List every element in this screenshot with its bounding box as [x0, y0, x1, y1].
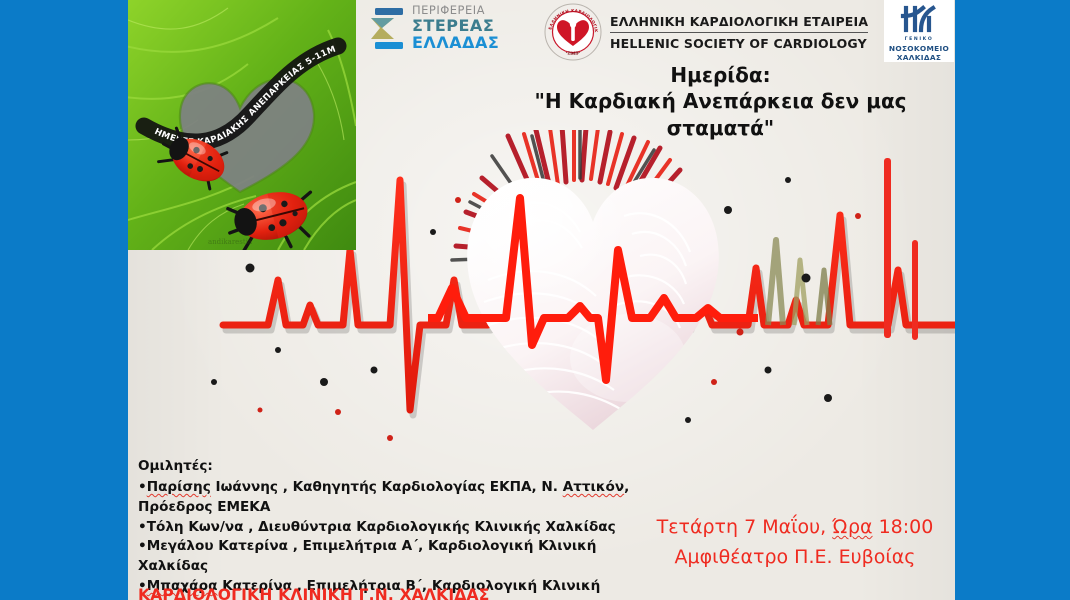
speaker-2-bullet: • [138, 519, 147, 535]
speaker-item-1-second-line: Πρόεδρος ΕΜΕΚΑ [138, 498, 668, 518]
speaker-1-affiliation: Αττικόν [563, 479, 624, 495]
event-date-venue: Τετάρτη 7 Μαΐου, Ώρα 18:00 Αμφιθέατρο Π.… [640, 512, 950, 573]
region-logo-line2: ΣΤΕΡΕΑΣ [412, 18, 499, 34]
sigma-logo-icon [370, 5, 406, 51]
speaker-2-text: Τόλη Κων/να , Διευθύντρια Καρδιολογικής … [147, 519, 616, 535]
title-line-1: Ημερίδα: [533, 62, 908, 88]
hospital-chalkida-logo: ΓΕΝΙΚΟ ΝΟΣΟΚΟΜΕΙΟ ΧΑΛΚΙΔΑΣ [884, 0, 954, 62]
speaker-item-3: •Μεγάλου Κατερίνα , Επιμελήτρια Α΄, Καρδ… [138, 537, 668, 577]
event-venue: Αμφιθέατρο Π.Ε. Ευβοίας [640, 542, 950, 572]
hellenic-society-of-cardiology-logo: ΕΛΛΗΝΙΚΗ ΚΑΡΔΙΟΛΟΓΙΚΗ ΕΤΑΙΡΕΙΑ -1949- ΕΛ… [543, 2, 868, 62]
event-time-value: 18:00 [873, 516, 934, 538]
event-poster: ΗΜΕΡΕΣ ΚΑΡΔΙΑΚΗΣ ΑΝΕΠΑΡΚΕΙΑΣ 5-11Μαΐου [0, 0, 1070, 600]
region-sterea-ellada-logo: ΠΕΡΙΦΕΡΕΙΑ ΣΤΕΡΕΑΣ ΕΛΛΑΔΑΣ [370, 5, 499, 51]
hospital-line2: ΝΟΣΟΚΟΜΕΙΟ [889, 44, 949, 53]
speaker-1-role: Ιωάννης , Καθηγητής Καρδιολογίας ΕΚΠΑ, Ν… [211, 479, 563, 495]
speakers-block: Ομιλητές: •Παρίσης Ιωάννης , Καθηγητής Κ… [138, 457, 668, 600]
speaker-1-bullet: • [138, 479, 147, 495]
event-time-label: Ώρα [832, 516, 872, 538]
speaker-item-1: •Παρίσης Ιωάννης , Καθηγητής Καρδιολογία… [138, 478, 668, 498]
poster-slide: ΗΜΕΡΕΣ ΚΑΡΔΙΑΚΗΣ ΑΝΕΠΑΡΚΕΙΑΣ 5-11Μαΐου [128, 0, 955, 600]
cardiology-seal-icon: ΕΛΛΗΝΙΚΗ ΚΑΡΔΙΟΛΟΓΙΚΗ ΕΤΑΙΡΕΙΑ -1949- [543, 2, 603, 62]
heart-illustration [428, 130, 758, 460]
organizing-clinic: ΚΑΡΔΙΟΛΟΓΙΚΗ ΚΛΙΝΙΚΗ Γ.Ν. ΧΑΛΚΙΔΑΣ [138, 586, 668, 600]
speaker-3-bullet: • [138, 538, 147, 554]
event-date-prefix: Τετάρτη 7 Μαΐου, [657, 516, 833, 538]
hospital-line1: ΓΕΝΙΚΟ [905, 37, 934, 42]
region-logo-line3: ΕΛΛΑΔΑΣ [412, 35, 499, 51]
logo-row: ΠΕΡΙΦΕΡΕΙΑ ΣΤΕΡΕΑΣ ΕΛΛΑΔΑΣ [128, 0, 955, 70]
svg-text:andikarestia: andikarestia [208, 238, 252, 246]
speaker-1-surname: Παρίσης [147, 479, 211, 495]
speaker-3-text: Μεγάλου Κατερίνα , Επιμελήτρια Α΄, Καρδι… [138, 538, 596, 574]
title-line-3: σταματά" [533, 115, 908, 141]
society-name-english: HELLENIC SOCIETY OF CARDIOLOGY [610, 33, 868, 51]
event-title: Ημερίδα: "Η Καρδιακή Ανεπάρκεια δεν μας … [533, 62, 908, 141]
speakers-heading: Ομιλητές: [138, 457, 668, 477]
speaker-item-2: •Τόλη Κων/να , Διευθύντρια Καρδιολογικής… [138, 518, 668, 538]
society-name-greek: ΕΛΛΗΝΙΚΗ ΚΑΡΔΙΟΛΟΓΙΚΗ ΕΤΑΙΡΕΙΑ [610, 14, 868, 33]
title-line-2: "Η Καρδιακή Ανεπάρκεια δεν μας [533, 88, 908, 114]
speaker-1-tail: , [624, 479, 629, 495]
event-date-line: Τετάρτη 7 Μαΐου, Ώρα 18:00 [640, 512, 950, 542]
hospital-line3: ΧΑΛΚΙΔΑΣ [897, 53, 942, 62]
hospital-mark-icon [899, 4, 939, 34]
